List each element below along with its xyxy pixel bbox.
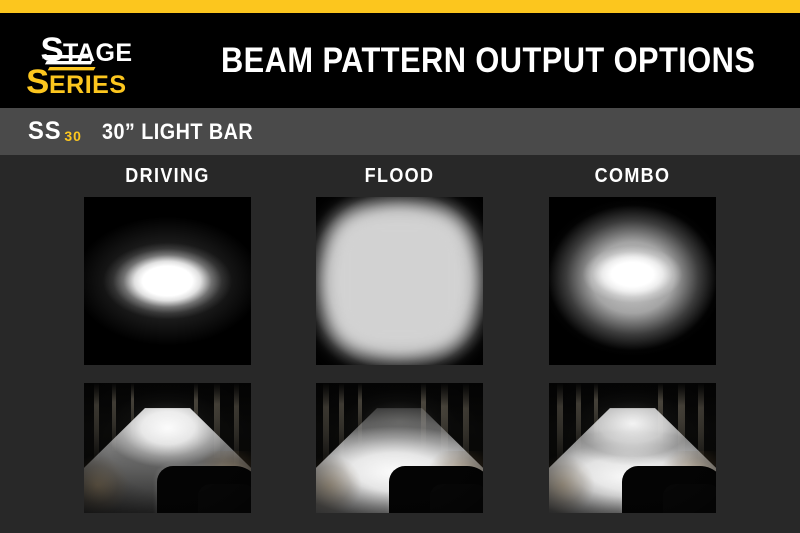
ss-badge-subscript: 30 [64,128,82,144]
top-accent-rule [0,0,800,13]
beam-glow-driving [84,197,251,365]
product-name-label: 30” LIGHT BAR [102,119,253,145]
column-header-combo: COMBO [557,155,707,197]
ss30-model-badge: SS30 [28,117,82,146]
real-world-photo-combo [549,383,716,513]
real-world-photo-driving [84,383,251,513]
column-driving: DRIVING [84,155,251,513]
beam-pattern-infographic: S TAGE S ERIES BEAM PATTERN OUTPUT OPTIO… [0,0,800,533]
beam-pattern-image-combo [549,197,716,365]
column-combo: COMBO [549,155,716,513]
subtitle-bar: SS30 30” LIGHT BAR [0,108,800,155]
beam-pattern-image-driving [84,197,251,365]
photo-vignette [549,383,716,513]
page-title: BEAM PATTERN OUTPUT OPTIONS [221,41,755,81]
comparison-grid: DRIVING FLOOD [0,155,800,533]
svg-text:S: S [26,63,49,101]
beam-glow-flood-core [328,209,472,353]
header-bar: S TAGE S ERIES BEAM PATTERN OUTPUT OPTIO… [0,13,800,108]
column-flood: FLOOD [316,155,483,513]
photo-vignette [84,383,251,513]
ss-badge-main: SS [28,117,62,146]
beam-pattern-image-flood [316,197,483,365]
beam-glow-combo [549,197,716,365]
column-header-flood: FLOOD [324,155,474,197]
svg-text:TAGE: TAGE [63,39,133,67]
photo-vignette [316,383,483,513]
stage-series-logo: S TAGE S ERIES [18,21,193,101]
real-world-photo-flood [316,383,483,513]
svg-text:ERIES: ERIES [49,71,127,99]
column-header-driving: DRIVING [92,155,242,197]
